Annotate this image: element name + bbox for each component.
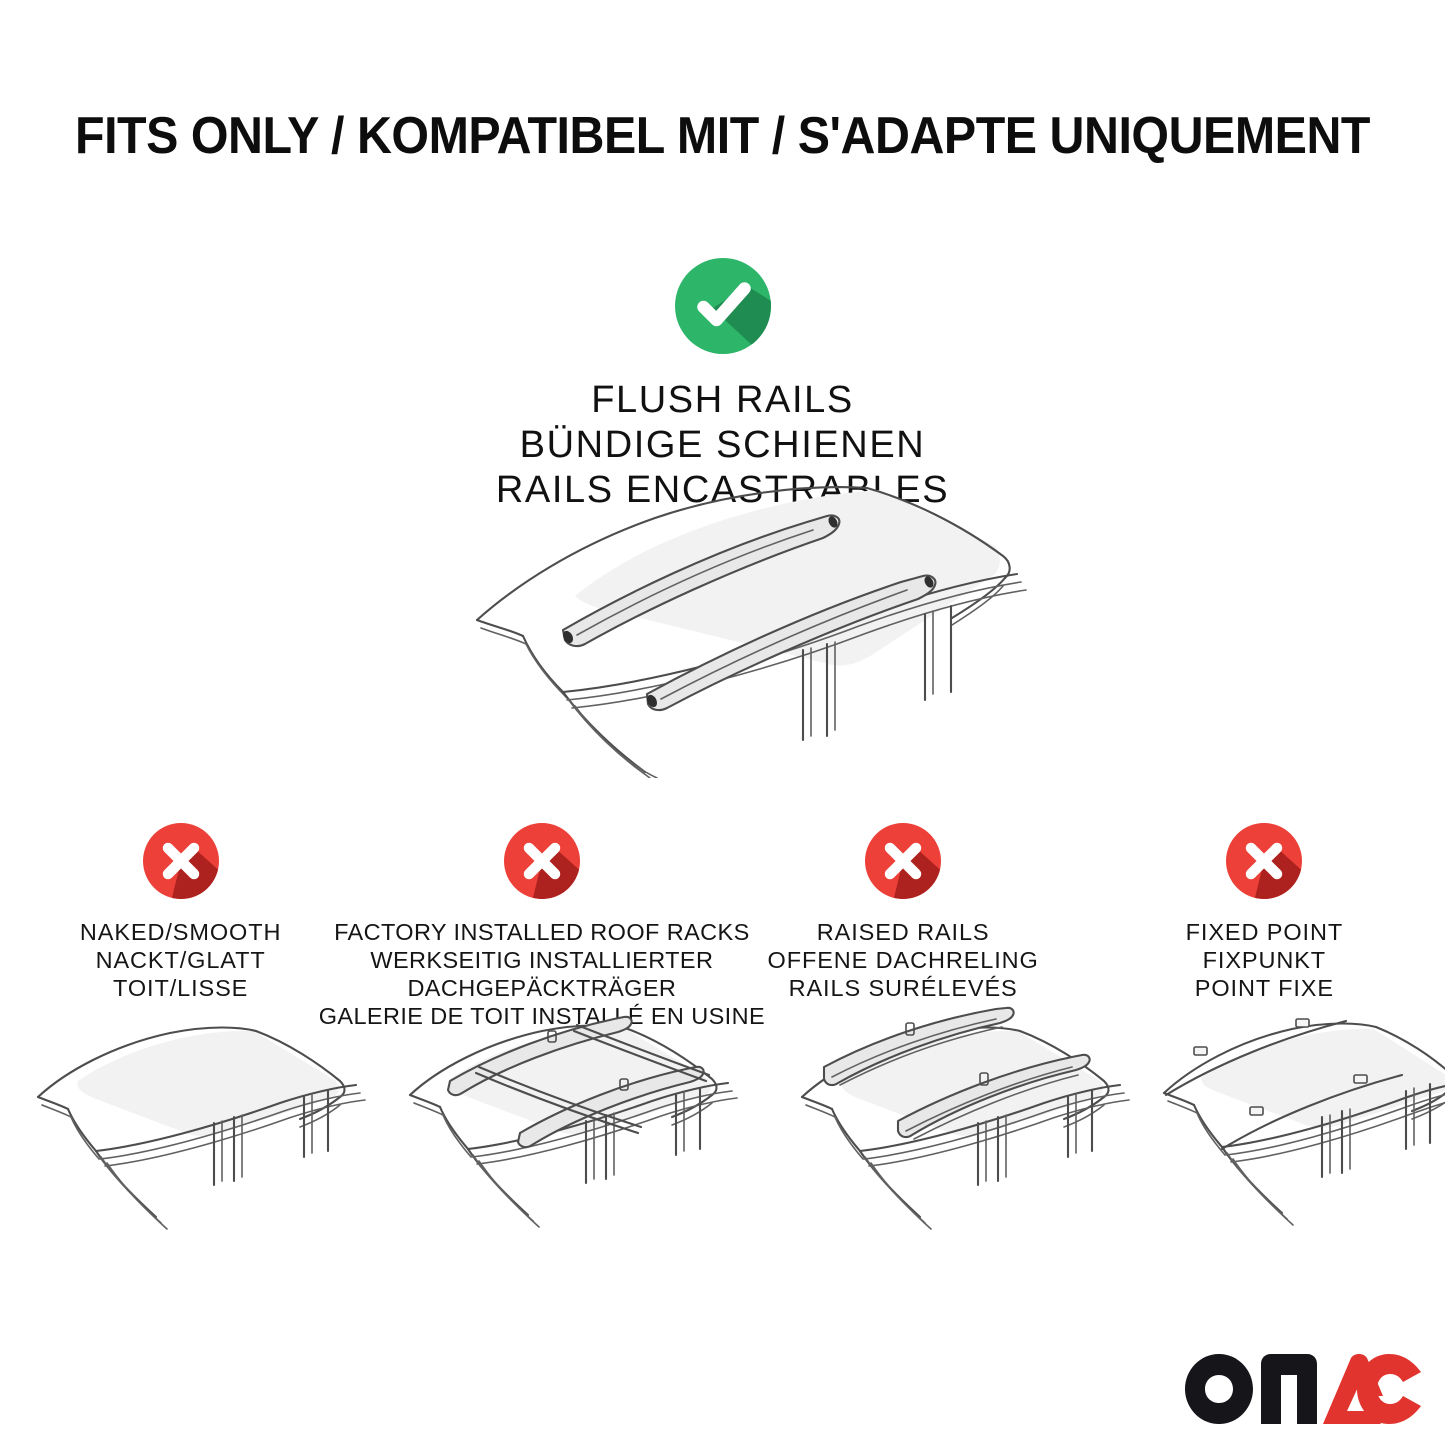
incompatible-label-group: NAKED/SMOOTH NACKT/GLATT TOIT/LISSE [80, 918, 281, 1002]
car-roof-with-flush-rails-illustration [455, 478, 1035, 778]
incompatible-label-en: NAKED/SMOOTH [80, 918, 281, 946]
incompatible-label-en: FIXED POINT [1186, 918, 1343, 946]
omac-logo-mark [1183, 1352, 1423, 1426]
incompatible-label-group: RAISED RAILS OFFENE DACHRELING RAILS SUR… [768, 918, 1039, 1002]
incompatible-label-de: FIXPUNKT [1186, 946, 1343, 974]
omac-logo [1183, 1352, 1423, 1426]
compatible-section: FLUSH RAILS BÜNDIGE SCHIENEN RAILS ENCAS… [0, 252, 1445, 513]
incompatible-label-group: FIXED POINT FIXPUNKT POINT FIXE [1186, 918, 1343, 1002]
compatible-badge [0, 252, 1445, 360]
incompatible-label-en: RAISED RAILS [768, 918, 1039, 946]
incompatible-item-raised-rails: RAISED RAILS OFFENE DACHRELING RAILS SUR… [723, 818, 1084, 1030]
red-x-circle-icon [860, 818, 946, 904]
header: FITS ONLY / KOMPATIBEL MIT / S'ADAPTE UN… [0, 108, 1445, 164]
incompatible-label-de-2: DACHGEPÄCKTRÄGER [319, 974, 765, 1002]
incompatible-section: NAKED/SMOOTH NACKT/GLATT TOIT/LISSE FACT… [0, 818, 1445, 1030]
incompatible-label-fr: TOIT/LISSE [80, 974, 281, 1002]
red-x-circle-icon [138, 818, 224, 904]
incompatible-label-de-1: WERKSEITIG INSTALLIERTER [319, 946, 765, 974]
incompatible-item-naked-smooth: NAKED/SMOOTH NACKT/GLATT TOIT/LISSE [0, 818, 361, 1030]
compatible-label-de: BÜNDIGE SCHIENEN [0, 423, 1445, 468]
page-title: FITS ONLY / KOMPATIBEL MIT / S'ADAPTE UN… [51, 108, 1395, 164]
red-x-circle-icon [1221, 818, 1307, 904]
car-roof-raised-rails-illustration [780, 1005, 1135, 1240]
car-roof-fixed-point-illustration [1150, 1005, 1445, 1240]
green-check-circle-icon [669, 252, 777, 360]
incompatible-item-factory-roof-racks: FACTORY INSTALLED ROOF RACKS WERKSEITIG … [361, 818, 722, 1030]
compatible-label-en: FLUSH RAILS [0, 378, 1445, 423]
red-x-circle-icon [499, 818, 585, 904]
incompatible-label-de: NACKT/GLATT [80, 946, 281, 974]
infographic-page: FITS ONLY / KOMPATIBEL MIT / S'ADAPTE UN… [0, 0, 1445, 1445]
car-roof-factory-roof-racks-illustration [388, 1005, 743, 1240]
incompatible-label-en: FACTORY INSTALLED ROOF RACKS [319, 918, 765, 946]
incompatible-label-fr: RAILS SURÉLEVÉS [768, 974, 1039, 1002]
car-roof-naked-smooth-illustration [18, 1005, 368, 1240]
incompatible-item-fixed-point: FIXED POINT FIXPUNKT POINT FIXE [1084, 818, 1445, 1030]
incompatible-label-fr: POINT FIXE [1186, 974, 1343, 1002]
incompatible-label-de: OFFENE DACHRELING [768, 946, 1039, 974]
